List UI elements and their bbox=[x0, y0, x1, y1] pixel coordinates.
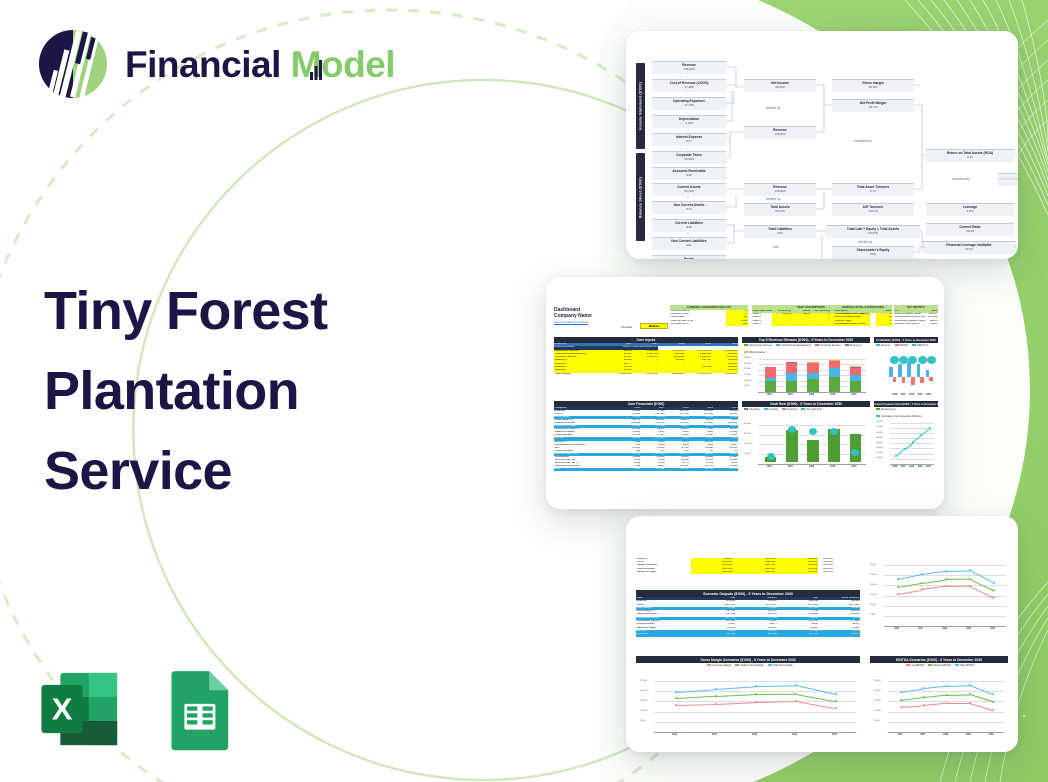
legend-item: Net Cash Flow bbox=[801, 408, 822, 411]
x-axis-tick: 2027 bbox=[918, 628, 923, 630]
x-axis-tick: 2030 bbox=[990, 628, 995, 630]
pie-bar-chart-logo-icon bbox=[36, 27, 110, 101]
y-axis-tick: 50,000 bbox=[876, 437, 883, 439]
table-row: Salaries & Wages(105.0%)(100.0%)(95.0%)(… bbox=[636, 571, 818, 574]
x-axis-tick: 2030 bbox=[832, 734, 837, 736]
line-segment bbox=[901, 705, 924, 707]
line-segment bbox=[716, 694, 756, 697]
table-cell: Cash bbox=[554, 468, 617, 471]
x-axis-tick: 2026 bbox=[767, 466, 772, 468]
gridline bbox=[654, 681, 856, 682]
y-axis-tick: 20,000 bbox=[744, 443, 751, 445]
x-axis-tick: 2030 bbox=[851, 394, 856, 396]
table-cell: - bbox=[772, 323, 792, 326]
gridline bbox=[758, 425, 866, 426]
y-axis-tick: 10,000 bbox=[640, 710, 647, 712]
data-label-pill bbox=[918, 356, 927, 364]
table-cell: Corporate tax % bbox=[670, 323, 726, 326]
line-segment bbox=[796, 685, 836, 695]
key-metrics-table: KPIValueReturn on Equity (ROE)+61.0%Inte… bbox=[894, 310, 938, 326]
bar bbox=[850, 434, 862, 462]
google-sheets-icon[interactable] bbox=[156, 666, 242, 752]
gridline bbox=[888, 722, 1004, 723]
data-point bbox=[945, 585, 947, 587]
x-axis-tick: 2027 bbox=[712, 734, 717, 736]
dashboard-sheet: Dashboard Company Name Go to the Table o… bbox=[546, 277, 944, 509]
page-title: Tiny Forest Plantation Service bbox=[44, 272, 424, 512]
profitability-chart: 20262027202820292030 bbox=[876, 352, 936, 400]
bar-revenue bbox=[889, 367, 893, 377]
data-point bbox=[835, 693, 837, 695]
bar-ebitda bbox=[911, 377, 915, 385]
y-axis-tick: 10,000 bbox=[874, 710, 881, 712]
data-point bbox=[795, 700, 797, 702]
y-axis-tick: 75,000 bbox=[876, 421, 883, 423]
dupont-connectors bbox=[626, 31, 1018, 259]
bar-segment bbox=[829, 377, 840, 392]
scenario-overview-chart: 5,00010,00015,00020,00025,00030,00020262… bbox=[870, 556, 1008, 634]
line-segment bbox=[924, 686, 947, 689]
x-axis-tick: 2030 bbox=[926, 394, 931, 396]
table-cell: Total Revenue bbox=[554, 373, 606, 376]
brand-name-part2: Model bbox=[291, 46, 395, 83]
profitability-legend: RevenueEBITDAEBITDA % bbox=[876, 344, 938, 347]
line-segment bbox=[676, 696, 716, 699]
bar bbox=[807, 440, 819, 462]
line-segment bbox=[676, 704, 716, 706]
data-point bbox=[755, 685, 757, 687]
bar-segment bbox=[786, 381, 797, 392]
x-axis-tick: 2026 bbox=[892, 394, 897, 396]
data-point bbox=[923, 696, 925, 698]
scenario-outputs-table: IndexLowMediumHighActive (Medium)Revenue… bbox=[636, 597, 860, 637]
line-segment bbox=[901, 697, 924, 701]
x-axis-tick: 2028 bbox=[909, 394, 914, 396]
data-point bbox=[675, 691, 677, 693]
line-segment bbox=[924, 695, 947, 698]
table-cell: (100.0%) bbox=[733, 571, 775, 574]
microsoft-excel-icon[interactable]: X bbox=[38, 666, 124, 752]
x-axis-tick: 2029 bbox=[917, 394, 922, 396]
table-cell: (95.0%) bbox=[775, 571, 817, 574]
core-inputs-table: Fixed Size20262027202820292030Revenue st… bbox=[554, 343, 738, 376]
x-axis-tick: 2026 bbox=[894, 628, 899, 630]
data-point bbox=[969, 702, 971, 704]
data-label-pill bbox=[788, 426, 796, 433]
data-point bbox=[897, 578, 899, 580]
gridline bbox=[888, 712, 1004, 713]
y-axis-tick: 5,000 bbox=[640, 720, 645, 722]
data-point bbox=[969, 585, 971, 587]
legend-item: Financing bbox=[782, 408, 797, 411]
bar-ebitda bbox=[902, 377, 906, 384]
bar-segment bbox=[765, 381, 776, 392]
bar-segment bbox=[850, 367, 861, 368]
y-axis-tick: 30,000 bbox=[744, 357, 751, 359]
x-axis-tick: 2028 bbox=[909, 466, 914, 468]
data-point bbox=[675, 704, 677, 706]
dashboard-header: Dashboard Company Name Go to the Table o… bbox=[554, 307, 592, 324]
y-axis-tick: 15,000 bbox=[870, 594, 877, 596]
brand-name-part1: Financial bbox=[125, 44, 281, 85]
line-segment bbox=[898, 589, 922, 594]
bar-ebitda bbox=[920, 377, 924, 383]
legend-item: Small Forest Manufacturing bbox=[776, 344, 810, 347]
data-point bbox=[895, 455, 897, 457]
bar bbox=[786, 430, 798, 462]
table-cell: (62.0%) bbox=[819, 633, 860, 636]
ebitda-chart: 5,00010,00015,00020,00025,00020262027202… bbox=[874, 672, 1006, 740]
table-row: Depreciation Period (Years)5 bbox=[834, 323, 892, 326]
line-segment bbox=[796, 694, 836, 702]
x-axis-tick: 2030 bbox=[926, 466, 931, 468]
line-segment bbox=[970, 703, 993, 711]
line-segment bbox=[756, 694, 796, 695]
line-segment bbox=[756, 685, 796, 686]
y-axis-tick: 20,000 bbox=[744, 368, 751, 370]
line-segment bbox=[922, 586, 946, 590]
x-axis-tick: 2027 bbox=[788, 466, 793, 468]
cashflow-chart-title: Cash flow ($'000) - 5 Years to December … bbox=[742, 401, 870, 407]
svg-text:X: X bbox=[52, 691, 73, 726]
gridline bbox=[884, 616, 1006, 617]
data-label-pill bbox=[890, 356, 899, 364]
data-point bbox=[993, 589, 995, 591]
table-cell: 48,392 bbox=[714, 468, 738, 471]
y-axis-tick: 5,000 bbox=[874, 720, 879, 722]
gridline bbox=[890, 423, 934, 424]
bar-segment bbox=[765, 367, 776, 378]
legend-item: Revenue bbox=[876, 344, 891, 347]
x-axis-tick: 2029 bbox=[792, 734, 797, 736]
dashboard-company-name: Company Name bbox=[554, 313, 592, 319]
x-axis-tick: 2027 bbox=[788, 394, 793, 396]
bar-segment bbox=[807, 362, 818, 363]
legend-item: Consulting Services bbox=[815, 344, 841, 347]
y-axis-tick: 30,000 bbox=[744, 433, 751, 435]
data-point bbox=[946, 694, 948, 696]
legend-item: High EBITDA bbox=[955, 664, 974, 667]
table-row: Corporate tax %30% bbox=[670, 323, 748, 326]
table-cell: (62.1%) bbox=[694, 633, 735, 636]
legend-item: Revenue 4 bbox=[845, 344, 862, 347]
data-label-pill bbox=[908, 356, 917, 364]
scenario-sheet: Revenue(80.0%)(100.0%)(120.0%)(100.0%)CO… bbox=[626, 516, 1018, 752]
y-axis-tick: 20,000 bbox=[876, 452, 883, 454]
x-axis-tick: 2029 bbox=[830, 466, 835, 468]
gridline bbox=[758, 359, 866, 360]
x-axis-tick: 2028 bbox=[809, 466, 814, 468]
table-cell: 28,100,000 bbox=[685, 373, 711, 376]
file-format-icons: X bbox=[38, 666, 242, 752]
table-cell: 1,0000 bbox=[925, 323, 938, 326]
legend-item: Operating bbox=[744, 408, 760, 411]
legend-item: EBITDA % bbox=[912, 344, 928, 347]
table-cell: Minimum Cash ($'000) bbox=[894, 323, 925, 326]
y-axis-tick: 10,000 bbox=[876, 457, 883, 459]
x-axis-tick: 2029 bbox=[966, 628, 971, 630]
table-row: Total Revenue16,200,00027,800,00028,400,… bbox=[554, 373, 738, 376]
line-segment bbox=[947, 694, 970, 695]
scenario-outputs-title: Scenario Outputs ($'000) - 5 Years to De… bbox=[636, 590, 860, 597]
bar-revenue bbox=[898, 364, 902, 377]
data-label-pill bbox=[851, 449, 859, 456]
data-point bbox=[923, 704, 925, 706]
x-axis-tick: 2029 bbox=[966, 734, 971, 736]
y-axis-tick: 5,000 bbox=[744, 385, 749, 387]
legend-item: Low EBITDA bbox=[906, 664, 925, 667]
data-point bbox=[755, 693, 757, 695]
bar-segment bbox=[807, 373, 818, 379]
data-point bbox=[946, 702, 948, 704]
bar-ebitda bbox=[893, 377, 897, 382]
working-capital-table: AssumptionValueAccounts Receivable Days3… bbox=[834, 310, 892, 326]
x-axis-tick: 2026 bbox=[892, 466, 897, 468]
table-of-contents-link[interactable]: Go to the Table of Contents bbox=[554, 320, 592, 324]
x-axis-tick: 2029 bbox=[917, 466, 922, 468]
data-point bbox=[992, 693, 994, 695]
line-segment bbox=[970, 685, 993, 695]
table-row: Cash4,36828,09218,76028,56848,392 bbox=[554, 468, 738, 471]
line-segment bbox=[922, 579, 946, 583]
table-cell: 4,368 bbox=[617, 468, 641, 471]
table-cell: 28,400,000 bbox=[658, 373, 684, 376]
table-cell: (100.0%) bbox=[822, 571, 860, 574]
x-axis-tick: 2027 bbox=[901, 466, 906, 468]
table-cell: 2029 bbox=[685, 343, 711, 346]
dupont-analysis-card[interactable]: Income Statement ($'000) Balance Sheet (… bbox=[626, 31, 1018, 259]
x-axis-tick: 2028 bbox=[752, 734, 757, 736]
table-cell: (105.0%) bbox=[691, 571, 733, 574]
gross-margin-chart: 5,00010,00015,00020,00025,00020262027202… bbox=[640, 672, 858, 740]
gridline bbox=[654, 712, 856, 713]
legend-item: Low Gross Margin bbox=[707, 664, 731, 667]
data-point bbox=[897, 593, 899, 595]
bar-segment bbox=[786, 373, 797, 381]
core-financials-table: Categories20262027202820292030Revenue56,… bbox=[554, 407, 738, 471]
bar-segment bbox=[807, 363, 818, 373]
line-segment bbox=[924, 703, 947, 706]
y-axis-tick: 20,000 bbox=[870, 584, 877, 586]
line-segment bbox=[946, 586, 970, 587]
data-point bbox=[904, 448, 906, 450]
scenario-assumptions-table: Revenue(80.0%)(100.0%)(120.0%)(100.0%)CO… bbox=[636, 558, 818, 574]
x-axis-tick: 2028 bbox=[809, 394, 814, 396]
y-axis-tick: 25,000 bbox=[870, 574, 877, 576]
y-axis-tick: 70,000 bbox=[876, 426, 883, 428]
y-axis-tick: 30,000 bbox=[870, 564, 877, 566]
data-point bbox=[715, 695, 717, 697]
data-point bbox=[755, 701, 757, 703]
table-cell: - bbox=[791, 323, 811, 326]
headline-line-2: Plantation bbox=[44, 352, 424, 432]
promo-slide: Financial Model Tiny Forest Plantation S… bbox=[0, 0, 1048, 782]
data-point bbox=[992, 709, 994, 711]
data-point bbox=[715, 688, 717, 690]
x-axis-tick: 2028 bbox=[942, 628, 947, 630]
revenue-streams-chart-title: Top 5 Revenue Streams ($'000) - 5 Years … bbox=[742, 337, 870, 343]
line-segment bbox=[946, 579, 970, 580]
headline-line-1: Tiny Forest bbox=[44, 272, 424, 352]
payback-chart: 10,00020,00030,00040,00050,00060,00070,0… bbox=[876, 416, 936, 472]
table-row: (100.0%) bbox=[822, 571, 860, 574]
bar-segment bbox=[850, 375, 861, 381]
x-axis-tick: 2030 bbox=[989, 734, 994, 736]
data-point bbox=[993, 582, 995, 584]
y-axis-tick: 15,000 bbox=[640, 700, 647, 702]
gridline bbox=[890, 448, 934, 449]
bar-segment bbox=[786, 362, 797, 373]
bar-segment bbox=[829, 361, 840, 368]
y-axis-tick: 40,000 bbox=[744, 423, 751, 425]
gridline bbox=[884, 606, 1006, 607]
table-cell: 5 bbox=[876, 323, 892, 326]
x-axis-tick: 2027 bbox=[901, 394, 906, 396]
gridline bbox=[654, 722, 856, 723]
bar-segment bbox=[850, 381, 861, 392]
bar-segment bbox=[765, 378, 776, 382]
table-cell: 2030 bbox=[711, 343, 737, 346]
y-axis-tick: 10,000 bbox=[744, 380, 751, 382]
scenario-selector[interactable]: Medium bbox=[640, 323, 668, 329]
x-axis-tick: 2030 bbox=[851, 466, 856, 468]
ebitda-legend: Low EBITDAMedium EBITDAHigh EBITDA bbox=[884, 664, 996, 667]
data-point bbox=[897, 586, 899, 588]
gross-margin-legend: Low Gross MarginMedium Gross MarginHigh … bbox=[660, 664, 840, 667]
gridline bbox=[888, 681, 1004, 682]
y-axis-tick: 5,000 bbox=[870, 614, 875, 616]
data-point bbox=[675, 697, 677, 699]
table-cell: (67.0%) bbox=[777, 633, 818, 636]
line-segment bbox=[946, 570, 970, 571]
table-row: EBITDA %(62.1%)(62.0%)(67.0%)(62.0%) bbox=[636, 633, 860, 636]
bar-segment bbox=[850, 368, 861, 375]
table-cell: 30% bbox=[726, 323, 748, 326]
table-cell: Depreciation Period (Years) bbox=[834, 323, 876, 326]
table-cell: 23,120,000 bbox=[711, 373, 737, 376]
y-axis-tick: 20,000 bbox=[874, 690, 881, 692]
legend-item: EBITDA bbox=[895, 344, 909, 347]
brand-name: Financial Model bbox=[125, 46, 395, 83]
gridline bbox=[890, 438, 934, 439]
legend-item: High Gross Margin bbox=[768, 664, 793, 667]
y-axis-tick: 15,000 bbox=[744, 374, 751, 376]
table-row: Minimum Cash ($'000)1,0000 bbox=[894, 323, 938, 326]
table-cell: 28,092 bbox=[641, 468, 665, 471]
x-axis-tick: 2026 bbox=[672, 734, 677, 736]
x-axis-tick: 2026 bbox=[767, 394, 772, 396]
x-axis-tick: 2027 bbox=[920, 734, 925, 736]
data-point bbox=[835, 700, 837, 702]
payback-chart-title: Investment Payback Chart ($'000) - 5 Yea… bbox=[874, 401, 938, 407]
legend-item: Medium EBITDA bbox=[928, 664, 951, 667]
table-cell: 16,200,000 bbox=[606, 373, 632, 376]
y-axis-tick: 20,000 bbox=[640, 690, 647, 692]
data-point bbox=[921, 582, 923, 584]
dupont-sheet: Income Statement ($'000) Balance Sheet (… bbox=[626, 31, 1018, 259]
scenario-analysis-card[interactable]: Revenue(80.0%)(100.0%)(120.0%)(100.0%)CO… bbox=[626, 516, 1018, 752]
x-axis-tick: 2029 bbox=[830, 394, 835, 396]
data-point bbox=[715, 703, 717, 705]
line-segment bbox=[921, 428, 930, 435]
y-axis-tick: 15,000 bbox=[874, 700, 881, 702]
table-cell: Salaries & Wages bbox=[636, 571, 691, 574]
legend-item: Medium Gross Margin bbox=[735, 664, 764, 667]
y-axis-tick: 25,000 bbox=[874, 680, 881, 682]
headline-line-3: Service bbox=[44, 432, 424, 512]
x-axis-tick: 2026 bbox=[897, 734, 902, 736]
line-segment bbox=[947, 703, 970, 704]
legend-item: Arboriculture Services bbox=[744, 344, 772, 347]
bar-segment bbox=[829, 360, 840, 361]
gridline bbox=[890, 459, 934, 460]
y-axis-tick: 10,000 bbox=[744, 453, 751, 455]
table-cell: Asset 4 bbox=[752, 323, 772, 326]
y-axis-tick: 30,000 bbox=[876, 447, 883, 449]
line-segment bbox=[716, 686, 756, 689]
data-point bbox=[992, 701, 994, 703]
table-cell: - bbox=[811, 323, 831, 326]
data-point bbox=[945, 570, 947, 572]
line-segment bbox=[947, 685, 970, 686]
x-axis-tick: 2028 bbox=[943, 734, 948, 736]
y-axis-tick: 10,000 bbox=[870, 604, 877, 606]
brand-logo[interactable]: Financial Model bbox=[36, 27, 395, 101]
y-axis-tick: 25,000 bbox=[640, 680, 647, 682]
scenario-label: Scenario bbox=[621, 325, 632, 329]
bar-revenue bbox=[907, 362, 911, 377]
y-axis-tick: 25,000 bbox=[744, 363, 751, 365]
ebitda-chart-title: EBITDA Scenarios ($'000) - 5 Years to De… bbox=[870, 656, 1008, 663]
gridline bbox=[890, 433, 934, 434]
bar-segment bbox=[786, 362, 797, 363]
data-point bbox=[795, 693, 797, 695]
legend-item: Payback year bbox=[876, 408, 895, 411]
bar-segment bbox=[829, 368, 840, 377]
gridline bbox=[884, 575, 1006, 576]
data-point bbox=[946, 685, 948, 687]
data-label-pill bbox=[927, 356, 936, 364]
table-cell: 18,760 bbox=[665, 468, 689, 471]
data-point bbox=[929, 427, 931, 429]
cashflow-chart: 10,00020,00030,00040,0002026202720282029… bbox=[744, 416, 868, 472]
bar-revenue bbox=[917, 364, 921, 377]
y-axis-tick: 60,000 bbox=[876, 432, 883, 434]
revenue-streams-chart: 5,00010,00015,00020,00025,00030,00020262… bbox=[744, 352, 868, 400]
scenario-active-table: (100.0%)(100.0%)(100.0%)(100.0%)(100.0%) bbox=[822, 558, 860, 574]
y-axis-tick: 40,000 bbox=[876, 442, 883, 444]
bar-revenue bbox=[926, 370, 930, 377]
table-cell: (62.0%) bbox=[736, 633, 777, 636]
cashflow-legend: OperatingInvestingFinancingNet Cash Flow bbox=[744, 408, 870, 411]
table-cell: 28,568 bbox=[689, 468, 713, 471]
legend-item: Investing bbox=[764, 408, 779, 411]
bar-ebitda bbox=[929, 377, 933, 381]
table-cell: 2028 bbox=[658, 343, 684, 346]
dashboard-card[interactable]: Dashboard Company Name Go to the Table o… bbox=[546, 277, 944, 509]
currency-assumptions-table: Currency Source$Currency Output$Denomina… bbox=[670, 310, 748, 326]
table-cell: 27,800,000 bbox=[632, 373, 658, 376]
gridline bbox=[884, 565, 1006, 566]
profitability-chart-title: Profitability ($'000) - 5 Years to Decem… bbox=[874, 337, 938, 343]
bar-segment bbox=[807, 379, 818, 392]
table-cell: EBITDA % bbox=[636, 633, 694, 636]
gross-margin-chart-title: Gross Margin Scenarios ($'000) - 5 Years… bbox=[636, 656, 860, 663]
bar-chart-accent-icon bbox=[310, 60, 324, 80]
data-point bbox=[969, 578, 971, 580]
